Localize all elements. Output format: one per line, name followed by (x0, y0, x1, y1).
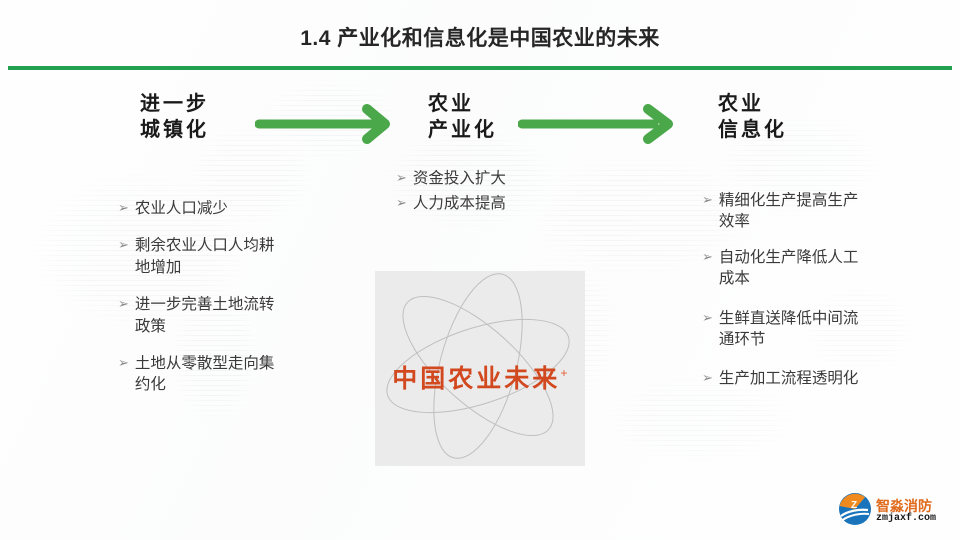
center-logo-plus: + (560, 366, 567, 381)
page-title: 1.4 产业化和信息化是中国农业的未来 (0, 22, 960, 52)
list-item: ➢ 自动化生产降低人工成本 (702, 247, 862, 290)
svg-text:Z: Z (851, 500, 857, 511)
bullet-arrow-icon: ➢ (702, 308, 713, 328)
list-item: ➢ 精细化生产提高生产效率 (702, 190, 862, 233)
list-item-label: 资金投入扩大 (413, 168, 536, 189)
slide-canvas: 1.4 产业化和信息化是中国农业的未来 进一步 城镇化 农业 产业化 农业 信息… (0, 0, 960, 540)
list-item: ➢ 剩余农业人口人均耕地增加 (118, 235, 278, 278)
list-item-label: 剩余农业人口人均耕地增加 (135, 235, 278, 278)
center-logo-text: 中国农业未来+ (375, 359, 585, 395)
list-item-label: 农业人口减少 (135, 198, 278, 219)
bullet-arrow-icon: ➢ (702, 247, 713, 267)
stage-heading-informatization: 农业 信息化 (718, 92, 787, 143)
list-item-label: 进一步完善土地流转政策 (135, 294, 278, 337)
bullet-arrow-icon: ➢ (118, 235, 129, 255)
list-item-label: 精细化生产提高生产效率 (719, 190, 862, 233)
list-item-label: 土地从零散型走向集约化 (135, 353, 278, 396)
bullet-arrow-icon: ➢ (118, 198, 129, 218)
list-item-label: 生产加工流程透明化 (719, 368, 862, 389)
bullet-arrow-icon: ➢ (396, 168, 407, 188)
bullet-arrow-icon: ➢ (396, 193, 407, 213)
list-item: ➢ 土地从零散型走向集约化 (118, 353, 278, 396)
zmjaxf-logo-icon: Z (838, 492, 872, 531)
list-item: ➢ 农业人口减少 (118, 198, 278, 219)
stage-column-industrialization: ➢ 资金投入扩大 ➢ 人力成本提高 (396, 168, 536, 219)
bullet-arrow-icon: ➢ (118, 353, 129, 373)
stage-column-informatization: ➢ 精细化生产提高生产效率 ➢ 自动化生产降低人工成本 ➢ 生鲜直送降低中间流通… (702, 190, 862, 404)
watermark: Z 智淼消防 zmjaxf.com (838, 492, 936, 531)
list-item-label: 自动化生产降低人工成本 (719, 247, 862, 290)
list-item: ➢ 资金投入扩大 (396, 168, 536, 189)
watermark-brand: 智淼消防 (876, 499, 936, 514)
title-divider-rule (8, 66, 952, 70)
watermark-text: 智淼消防 zmjaxf.com (876, 499, 936, 524)
stage-column-urbanization: ➢ 农业人口减少 ➢ 剩余农业人口人均耕地增加 ➢ 进一步完善土地流转政策 ➢ … (118, 198, 278, 412)
watermark-url: zmjaxf.com (876, 514, 936, 525)
center-logo-label: 中国农业未来 (392, 366, 560, 393)
stage-heading-urbanization: 进一步 城镇化 (140, 92, 209, 143)
list-item-label: 人力成本提高 (413, 193, 536, 214)
bullet-arrow-icon: ➢ (702, 190, 713, 210)
list-item: ➢ 生鲜直送降低中间流通环节 (702, 308, 862, 351)
stage-heading-industrialization: 农业 产业化 (428, 92, 497, 143)
bullet-arrow-icon: ➢ (702, 368, 713, 388)
bullet-arrow-icon: ➢ (118, 294, 129, 314)
list-item: ➢ 生产加工流程透明化 (702, 368, 862, 389)
center-logo-panel: 中国农业未来+ (375, 271, 585, 466)
arrow-right-icon (518, 104, 678, 149)
list-item-label: 生鲜直送降低中间流通环节 (719, 308, 862, 351)
list-item: ➢ 进一步完善土地流转政策 (118, 294, 278, 337)
list-item: ➢ 人力成本提高 (396, 193, 536, 214)
arrow-right-icon (255, 104, 395, 149)
